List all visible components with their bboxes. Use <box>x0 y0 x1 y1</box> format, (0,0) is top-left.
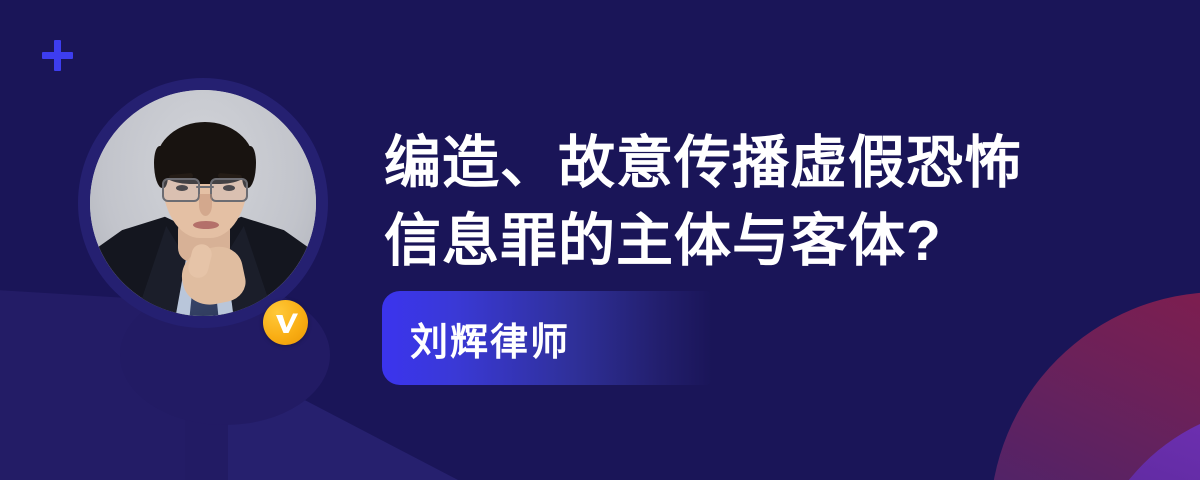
portrait-nose <box>199 194 212 216</box>
page-title: 编造、故意传播虚假恐怖 信息罪的主体与客体? <box>384 124 1084 280</box>
plus-icon-horizontal-bar <box>42 52 73 59</box>
glasses-bridge <box>196 186 214 188</box>
lawyer-name-label: 刘辉律师 <box>382 311 570 366</box>
verified-check-icon <box>263 300 308 345</box>
glasses-lens-left <box>162 178 200 202</box>
lawyer-question-card: 编造、故意传播虚假恐怖 信息罪的主体与客体? 刘辉律师 <box>0 0 1200 480</box>
lawyer-name-badge[interactable]: 刘辉律师 <box>382 291 712 385</box>
glasses-lens-right <box>210 178 248 202</box>
avatar-photo <box>90 90 316 316</box>
portrait-mouth <box>193 221 219 229</box>
avatar[interactable] <box>78 78 328 328</box>
plus-icon <box>42 40 73 71</box>
